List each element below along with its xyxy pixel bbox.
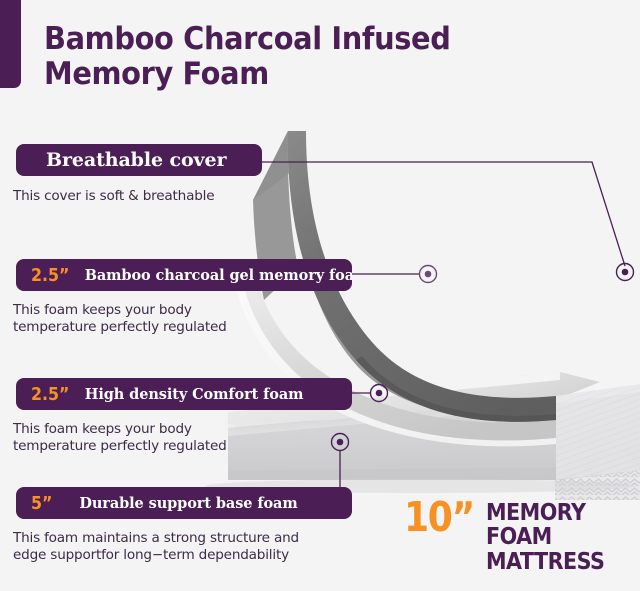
dot-bamboo-charcoal-gel [420,266,437,283]
dot-breathable-cover [617,264,634,281]
callout-description-durable-support-base: This foam maintains a strong structure a… [13,530,373,565]
callout-label-durable-support-base: Durable support base foam [79,495,297,512]
brand-size-block: 10” MEMORY FOAM MATTRESS [404,500,636,574]
brand-product-name: MEMORY FOAM MATTRESS [486,501,621,574]
callout-description-high-density-comfort: This foam keeps your body temperature pe… [13,421,313,456]
callout-label-high-density-comfort: High density Comfort foam [85,386,304,403]
brand-inches: 10” [404,500,474,535]
connector-dots [332,264,634,451]
callout-measure-durable-support-base: 5” [31,493,52,514]
callout-label-bamboo-charcoal-gel: Bamboo charcoal gel memory foam [85,267,352,284]
connector-breathable-cover [258,162,625,266]
callout-measure-bamboo-charcoal-gel: 2.5” [31,265,69,286]
callout-label-breathable-cover: Breathable cover [46,149,226,171]
callout-pill-bamboo-charcoal-gel[interactable]: 2.5” Bamboo charcoal gel memory foam [16,259,352,291]
callout-pill-breathable-cover[interactable]: Breathable cover [16,144,262,176]
dot-high-density-comfort [371,385,388,402]
callout-pill-high-density-comfort[interactable]: 2.5” High density Comfort foam [16,378,352,410]
callout-pill-durable-support-base[interactable]: 5” Durable support base foam [16,487,352,519]
infographic-root: Bamboo Charcoal Infused Memory Foam [0,0,640,591]
callout-description-breathable-cover: This cover is soft & breathable [13,188,313,205]
callout-description-bamboo-charcoal-gel: This foam keeps your body temperature pe… [13,302,313,337]
callout-measure-high-density-comfort: 2.5” [31,384,69,405]
dot-durable-support-base [332,434,349,451]
